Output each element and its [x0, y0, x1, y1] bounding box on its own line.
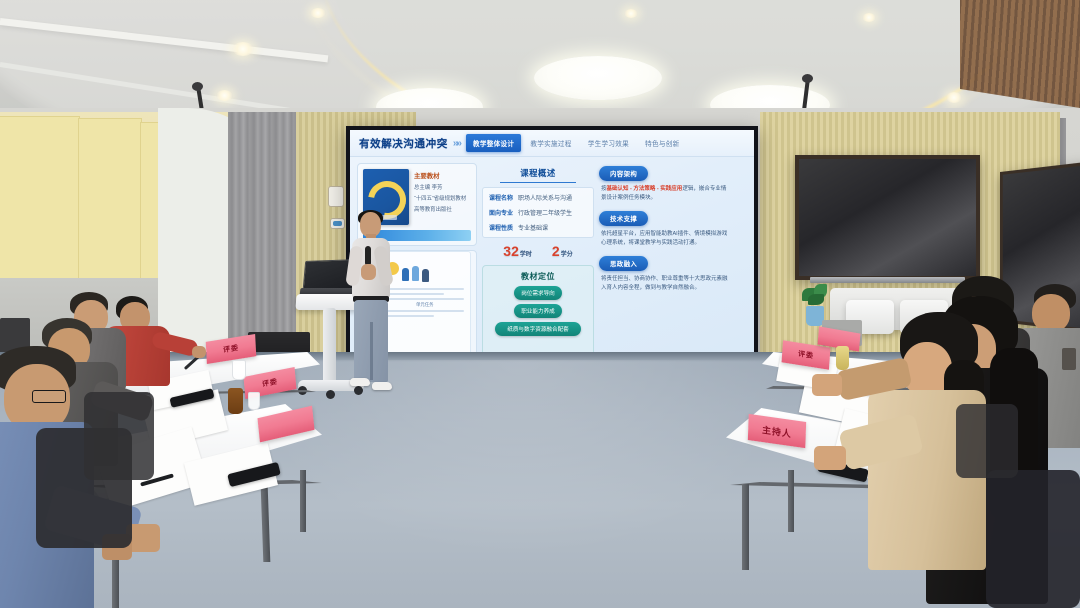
- tab-learning-outcome[interactable]: 学生学习效果: [581, 134, 636, 152]
- downlight-icon: [310, 8, 326, 18]
- slide-body: 主要教材 总主编 李芳 “十四五”省级规划教材 高等教育出版社: [350, 157, 754, 369]
- positioning-tags-row-2: 纸质与数字资源融合配套: [495, 322, 581, 336]
- microphone-icon: [365, 246, 371, 266]
- positioning-tags-row-1: 岗位需求导向 职业能力养成: [489, 286, 587, 318]
- tab-overall-design[interactable]: 教学整体设计: [466, 134, 521, 152]
- ceiling-hanger-mount: [802, 74, 813, 83]
- course-overview-fields: 课程名称 职场人际关系与沟通 面向专业 行政管理二年级学生 课程性质 专业基础课: [482, 187, 594, 238]
- textbook-line: “十四五”省级规划教材: [414, 195, 471, 203]
- text-highlight: 基础认知 - 方法策略 - 实践应: [607, 186, 677, 192]
- water-cup[interactable]: [232, 360, 246, 380]
- plant-leaf-icon: [808, 294, 824, 305]
- table-leg: [300, 470, 306, 532]
- slide-tabs: 教学整体设计 教学实施过程 学生学习效果 特色与创新: [466, 134, 687, 152]
- block-badge: 思政融入: [599, 256, 648, 271]
- block-ideology-integration: 思政融入 将责任担当、协商协作、职业尊重等十大思政元素融入育人内容全程，做到与教…: [599, 253, 729, 293]
- presenter-shoe: [350, 378, 370, 386]
- field-row: 课程性质 专业基础课: [489, 223, 587, 232]
- positioning-tag: 岗位需求导向: [514, 286, 562, 300]
- diagram-person-icon: [402, 268, 409, 281]
- table-leg: [742, 484, 749, 570]
- glasses-icon: [32, 390, 66, 403]
- field-value: 专业基础课: [518, 223, 548, 232]
- course-overview-section: 课程概述 课程名称 职场人际关系与沟通 面向专业 行政管理二年级学生: [482, 163, 594, 261]
- downlight-icon: [216, 90, 233, 101]
- downlight-icon: [624, 9, 638, 18]
- field-key: 课程名称: [489, 193, 513, 202]
- diagram-person-icon: [422, 269, 429, 282]
- classroom-photo: 有效解决沟通冲突 »» 教学整体设计 教学实施过程 学生学习效果 特色与创新: [0, 0, 1080, 608]
- textbook-line: 高等教育出版社: [414, 206, 471, 214]
- presenter-hands: [361, 264, 376, 280]
- textbook-positioning-section: 教材定位 岗位需求导向 职业能力养成 纸质与数字资源融合配套: [482, 265, 594, 363]
- field-key: 面向专业: [489, 208, 513, 217]
- water-cup[interactable]: [248, 392, 260, 410]
- course-overview-title: 课程概述: [500, 163, 576, 183]
- podium-caster: [326, 390, 335, 399]
- downlight-icon: [862, 13, 876, 22]
- textbook-line: 总主编 李芳: [414, 184, 471, 192]
- stat-unit: 学时: [520, 249, 532, 258]
- textbook-meta: 主要教材 总主编 李芳 “十四五”省级规划教材 高等教育出版社: [414, 169, 471, 217]
- slide-title: 有效解决沟通冲突: [359, 136, 448, 151]
- stat-number: 2: [552, 243, 560, 259]
- wall-control-touchpanel[interactable]: [330, 218, 345, 229]
- block-content-architecture: 内容架构 按基础认知 - 方法策略 - 实践应用逻辑，嵌合专业情景设计案例任务模…: [599, 163, 729, 203]
- wall-panel: [0, 116, 80, 286]
- ceiling-hanger-mount: [192, 82, 203, 91]
- control-panel-screen: [333, 221, 342, 226]
- field-value: 职场人际关系与沟通: [518, 193, 572, 202]
- tab-implementation[interactable]: 教学实施过程: [523, 134, 578, 152]
- tea-bottle[interactable]: [228, 388, 243, 414]
- chair-back: [986, 470, 1080, 608]
- ceiling-oval-light-2: [534, 56, 662, 100]
- slide-header: 有效解决沟通冲突 »» 教学整体设计 教学实施过程 学生学习效果 特色与创新: [350, 130, 754, 157]
- block-badge: 技术支撑: [599, 211, 648, 226]
- positioning-title: 教材定位: [521, 271, 555, 282]
- slide-content: 有效解决沟通冲突 »» 教学整体设计 教学实施过程 学生学习效果 特色与创新: [350, 130, 754, 369]
- field-row: 面向专业 行政管理二年级学生: [489, 208, 587, 217]
- chair-back: [84, 392, 154, 480]
- presenter-shoe: [372, 382, 392, 390]
- wall-speaker: [1062, 348, 1076, 370]
- stat-credits: 2 学分: [552, 243, 573, 259]
- chair-back: [956, 404, 1018, 478]
- wall-panel: [78, 118, 142, 284]
- downlight-icon: [232, 42, 254, 56]
- wall-intercom-panel[interactable]: [328, 186, 344, 207]
- field-row: 课程名称 职场人际关系与沟通: [489, 193, 587, 202]
- tv-screen: [799, 159, 976, 276]
- positioning-tag: 职业能力养成: [514, 304, 562, 318]
- beverage-bottle[interactable]: [836, 346, 849, 370]
- downlight-icon: [946, 92, 962, 103]
- positioning-tag: 纸质与数字资源融合配套: [495, 322, 581, 336]
- block-technical-support: 技术支撑 依托超星平台，应用智能助教AI插件、情境模拟游戏心理系统，将课堂教学与…: [599, 208, 729, 248]
- hand: [192, 346, 206, 358]
- field-value: 行政管理二年级学生: [518, 208, 572, 217]
- tab-features-innovation[interactable]: 特色与创新: [638, 134, 686, 152]
- stat-number: 32: [503, 243, 519, 259]
- field-key: 课程性质: [489, 223, 513, 232]
- wall-tv-display[interactable]: [795, 155, 980, 280]
- block-text: 按基础认知 - 方法策略 - 实践应用逻辑，嵌合专业情景设计案例任务模块。: [599, 185, 729, 203]
- presenter-leg-seam: [370, 322, 373, 380]
- block-text: 将责任担当、协商协作、职业尊重等十大思政元素融入育人内容全程，做到与教学自然融合…: [599, 275, 729, 293]
- ceiling-wood-slat-strip: [960, 0, 1080, 108]
- hand: [812, 374, 842, 396]
- stat-hours: 32 学时: [503, 243, 532, 259]
- chevron-right-icon: »»: [453, 138, 460, 149]
- hand: [814, 446, 846, 470]
- diagram-person-icon: [412, 266, 419, 281]
- table-leg: [788, 470, 794, 532]
- block-text: 依托超星平台，应用智能助教AI插件、情境模拟游戏心理系统，将课堂教学与实践活动打…: [599, 230, 729, 248]
- head: [1032, 294, 1070, 332]
- block-badge: 内容架构: [599, 166, 648, 181]
- tv-speaker-bar: [810, 277, 966, 283]
- slide-column-overview: 课程概述 课程名称 职场人际关系与沟通 面向专业 行政管理二年级学生: [482, 163, 594, 363]
- slide-column-blocks: 内容架构 按基础认知 - 方法策略 - 实践应用逻辑，嵌合专业情景设计案例任务模…: [599, 163, 729, 363]
- course-stats: 32 学时 2 学分: [482, 238, 594, 261]
- stat-unit: 学分: [561, 249, 573, 258]
- textbook-badge: 主要教材: [414, 171, 471, 180]
- projection-screen: 有效解决沟通冲突 »» 教学整体设计 教学实施过程 学生学习效果 特色与创新: [346, 126, 758, 373]
- podium-column: [323, 308, 336, 386]
- presenter-person: [344, 212, 398, 400]
